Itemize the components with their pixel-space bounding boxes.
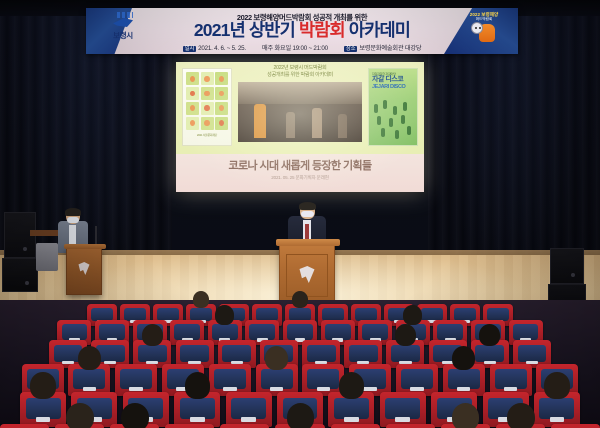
auditorium-seat bbox=[220, 424, 269, 428]
auditorium-seat bbox=[55, 424, 104, 428]
auditorium-seat bbox=[174, 392, 220, 427]
event-banner: 보령시 2022 보령해양머드박람회 성공적 개최를 위한 2021년 상반기 … bbox=[86, 8, 518, 54]
seat-number-plate bbox=[241, 417, 256, 422]
seat-number-plate bbox=[395, 417, 410, 422]
audience-member bbox=[339, 372, 364, 399]
auditorium-seat bbox=[328, 392, 374, 427]
seat-number-plate bbox=[270, 387, 283, 391]
auditorium-seat bbox=[490, 364, 532, 396]
audience-member bbox=[30, 372, 55, 399]
face-mask-icon bbox=[67, 217, 79, 223]
audience-member bbox=[265, 346, 288, 370]
audience-member bbox=[452, 346, 475, 370]
auditorium-seat bbox=[496, 424, 545, 428]
seat-number-plate bbox=[317, 387, 330, 391]
auditorium-seat bbox=[110, 424, 159, 428]
banner-main-title: 2021년 상반기 박람회 아카데미 bbox=[86, 21, 518, 40]
auditorium-seat bbox=[441, 424, 490, 428]
auditorium-seat bbox=[0, 424, 49, 428]
banner-date-value: 2021. 4. 6. ~ 5. 25. bbox=[198, 45, 246, 52]
mascot-icon bbox=[471, 22, 497, 44]
seat-row bbox=[0, 424, 600, 428]
auditorium-seat bbox=[396, 364, 438, 396]
seat-number-plate bbox=[410, 387, 423, 391]
audience-member bbox=[287, 403, 315, 428]
seat-number-plate bbox=[223, 387, 236, 391]
auditorium-seat bbox=[115, 364, 157, 396]
audience-member bbox=[78, 346, 101, 370]
banner-schedule-value: 매주 화요일 19:00 ~ 21:00 bbox=[262, 45, 328, 52]
banner-place-tag: 장소 bbox=[344, 46, 358, 52]
face-mask-icon-presenter bbox=[301, 211, 314, 217]
auditorium-seat bbox=[302, 364, 344, 396]
auditorium-seat bbox=[256, 364, 298, 396]
audience-member bbox=[292, 291, 309, 308]
seat-number-plate bbox=[83, 387, 96, 391]
city-dots-icon bbox=[117, 12, 133, 18]
audience-member bbox=[142, 324, 163, 346]
mud-festival-logo: 2022 보령해양 머드박람회 bbox=[462, 12, 506, 50]
equipment-case bbox=[36, 243, 58, 271]
audience-member bbox=[193, 291, 210, 308]
podium-emblem-icon-left bbox=[79, 262, 90, 275]
banner-title-part1: 2021년 상반기 bbox=[194, 20, 299, 40]
audience-member bbox=[121, 403, 149, 428]
auditorium-seat bbox=[534, 392, 580, 427]
auditorium-seat bbox=[551, 424, 600, 428]
audience-member bbox=[479, 324, 500, 346]
banner-date-tag: 일시 bbox=[183, 46, 197, 52]
auditorium-seat bbox=[226, 392, 272, 427]
speaker-cabinet-right-upper bbox=[550, 248, 584, 284]
seat-number-plate bbox=[36, 417, 51, 422]
auditorium-seat bbox=[380, 392, 426, 427]
audience-member bbox=[185, 372, 210, 399]
audience-member bbox=[403, 305, 422, 325]
speaker-cabinet-left-lower bbox=[2, 258, 38, 292]
banner-title-part3: 아카데미 bbox=[345, 20, 410, 40]
banner-detail-line: 일시2021. 4. 6. ~ 5. 25.매주 화요일 19:00 ~ 21:… bbox=[86, 43, 518, 52]
seat-number-plate bbox=[344, 417, 359, 422]
auditorium-seat bbox=[386, 424, 435, 428]
auditorium-photo: 보령시 2022 보령해양머드박람회 성공적 개최를 위한 2021년 상반기 … bbox=[0, 0, 600, 428]
auditorium-seat bbox=[165, 424, 214, 428]
seat-number-plate bbox=[129, 387, 142, 391]
seat-row bbox=[0, 364, 600, 396]
auditorium-seat bbox=[331, 424, 380, 428]
audience-seating bbox=[0, 300, 600, 428]
city-logo: 보령시 bbox=[102, 15, 144, 41]
seat-number-plate bbox=[550, 417, 565, 422]
auditorium-seat bbox=[443, 364, 485, 396]
seat-number-plate bbox=[457, 387, 470, 391]
audience-member bbox=[507, 403, 535, 428]
seat-number-plate bbox=[504, 387, 517, 391]
audience-member bbox=[66, 403, 94, 428]
audience-member bbox=[395, 324, 416, 346]
banner-place-value: 보령문화예술회관 대강당 bbox=[359, 45, 421, 52]
seat-number-plate bbox=[190, 417, 205, 422]
audience-member bbox=[544, 372, 569, 399]
mud-logo-line2: 머드박람회 bbox=[462, 17, 506, 21]
city-emblem-icon bbox=[111, 15, 135, 29]
auditorium-seat bbox=[20, 392, 66, 427]
city-logo-label: 보령시 bbox=[102, 30, 144, 41]
auditorium-seat bbox=[275, 424, 324, 428]
projection-screen: 2022년 보령시 머드박람회 성공개최를 위한 박람회 아카데미 2021 서… bbox=[176, 62, 424, 192]
moderator-podium bbox=[66, 247, 102, 295]
auditorium-seat bbox=[68, 364, 110, 396]
audience-member bbox=[215, 305, 234, 325]
seat-number-plate bbox=[363, 387, 376, 391]
banner-title-part2: 박람회 bbox=[299, 20, 345, 40]
auditorium-seat bbox=[209, 364, 251, 396]
